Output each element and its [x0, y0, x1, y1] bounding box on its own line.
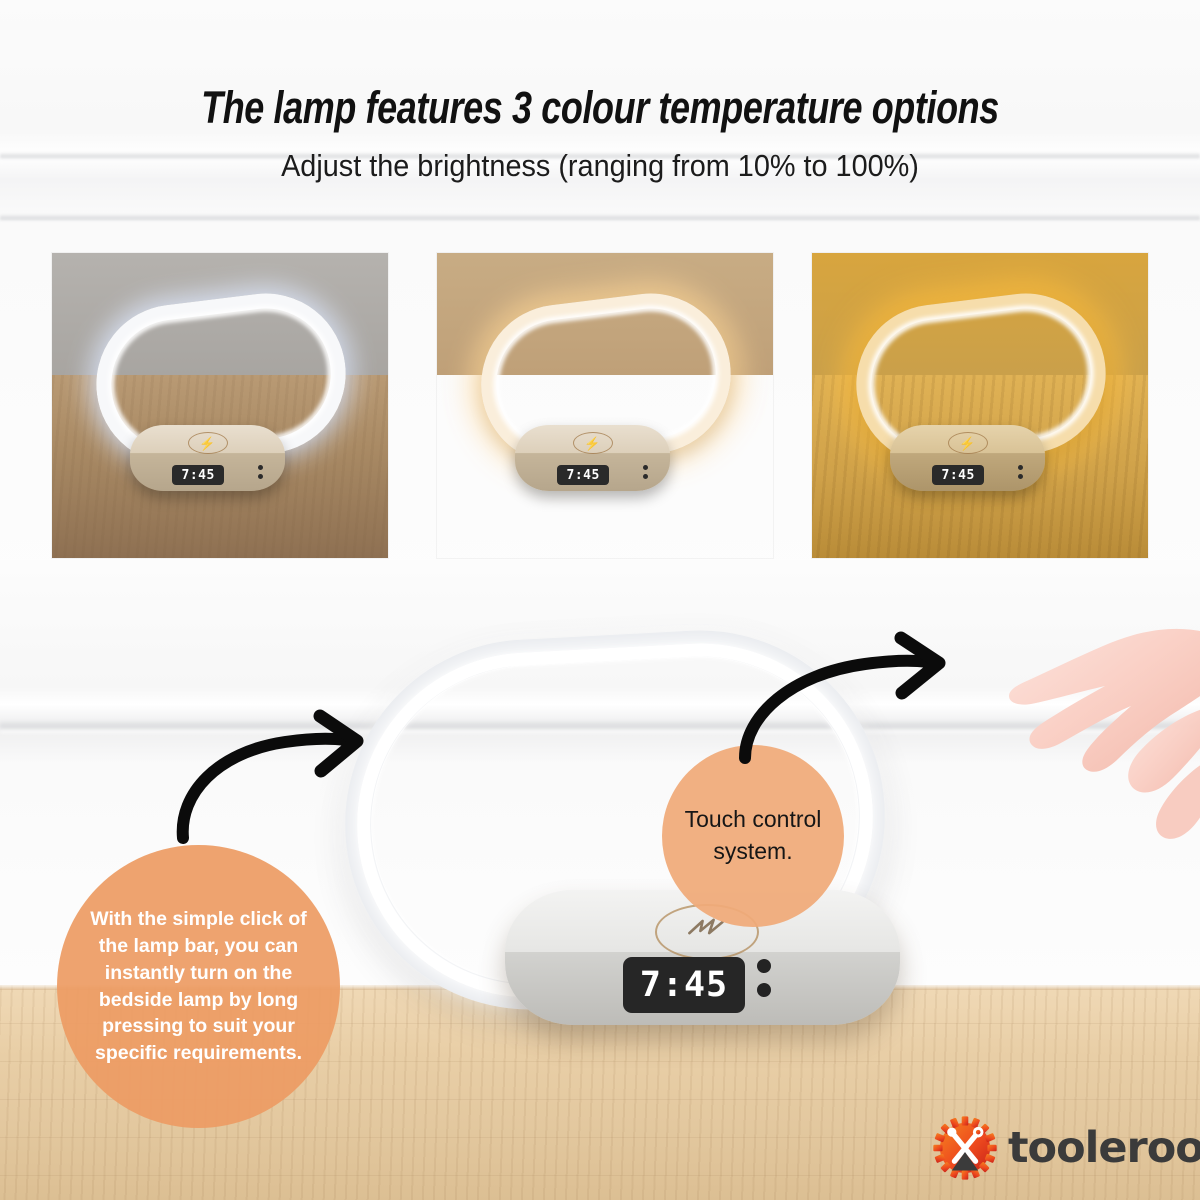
dot-button-1[interactable]	[757, 959, 771, 973]
scene: ⚡ 7:45	[437, 253, 773, 558]
bolt-glyph: ⚡	[584, 437, 600, 450]
clock-value: 7:45	[182, 468, 215, 483]
product-thumbnail-row: ⚡ 7:45 ⚡ 7:45	[0, 253, 1200, 558]
bolt-glyph: ⚡	[199, 437, 215, 450]
button-dots[interactable]	[258, 465, 263, 483]
brand-logo[interactable]: tooleroo	[932, 1112, 1172, 1184]
dot-button-1[interactable]	[1018, 465, 1023, 470]
hand-icon	[955, 612, 1200, 867]
lamp-base: ⚡ 7:45	[515, 425, 670, 491]
bolt-glyph: ⚡	[959, 437, 975, 450]
dot-button-2[interactable]	[258, 474, 263, 479]
thumbnail-warm-amber[interactable]: ⚡ 7:45	[812, 253, 1148, 558]
dot-button-2[interactable]	[643, 474, 648, 479]
thumbnail-cool-white[interactable]: ⚡ 7:45	[52, 253, 388, 558]
hero-clock-display: 7:45	[623, 957, 745, 1013]
infographic-canvas: The lamp features 3 colour temperature o…	[0, 0, 1200, 1200]
callout-click-lamp-bar[interactable]: With the simple click of the lamp bar, y…	[57, 845, 340, 1128]
callout-click-text: With the simple click of the lamp bar, y…	[81, 906, 316, 1067]
clock-display: 7:45	[172, 465, 224, 485]
lamp-base: ⚡ 7:45	[890, 425, 1045, 491]
heading-block: The lamp features 3 colour temperature o…	[0, 82, 1200, 184]
gear-tools-logo-icon	[932, 1115, 998, 1181]
hero-clock-value: 7:45	[640, 965, 728, 1005]
clock-value: 7:45	[942, 468, 975, 483]
lamp-base: ⚡ 7:45	[130, 425, 285, 491]
clock-value: 7:45	[567, 468, 600, 483]
dot-button-1[interactable]	[643, 465, 648, 470]
wireless-charge-bolt-icon: ⚡	[948, 432, 988, 454]
page-subtitle: Adjust the brightness (ranging from 10% …	[42, 148, 1158, 184]
clock-display: 7:45	[932, 465, 984, 485]
callout-touch-control[interactable]: Touch control system.	[662, 745, 844, 927]
button-dots[interactable]	[1018, 465, 1023, 483]
brand-name: tooleroo	[1008, 1123, 1200, 1173]
wall-seam-2	[0, 214, 1200, 224]
wireless-charge-bolt-icon: ⚡	[573, 432, 613, 454]
clock-display: 7:45	[557, 465, 609, 485]
dot-button-1[interactable]	[258, 465, 263, 470]
button-dots[interactable]	[643, 465, 648, 483]
wireless-charge-bolt-icon: ⚡	[188, 432, 228, 454]
scene: ⚡ 7:45	[52, 253, 388, 558]
callout-touch-text: Touch control system.	[662, 804, 844, 867]
thumbnail-neutral-warm[interactable]: ⚡ 7:45	[437, 253, 773, 558]
hero-button-dots[interactable]	[757, 959, 771, 1007]
dot-button-2[interactable]	[757, 983, 771, 997]
page-title: The lamp features 3 colour temperature o…	[120, 82, 1080, 134]
scene: ⚡ 7:45	[812, 253, 1148, 558]
dot-button-2[interactable]	[1018, 474, 1023, 479]
